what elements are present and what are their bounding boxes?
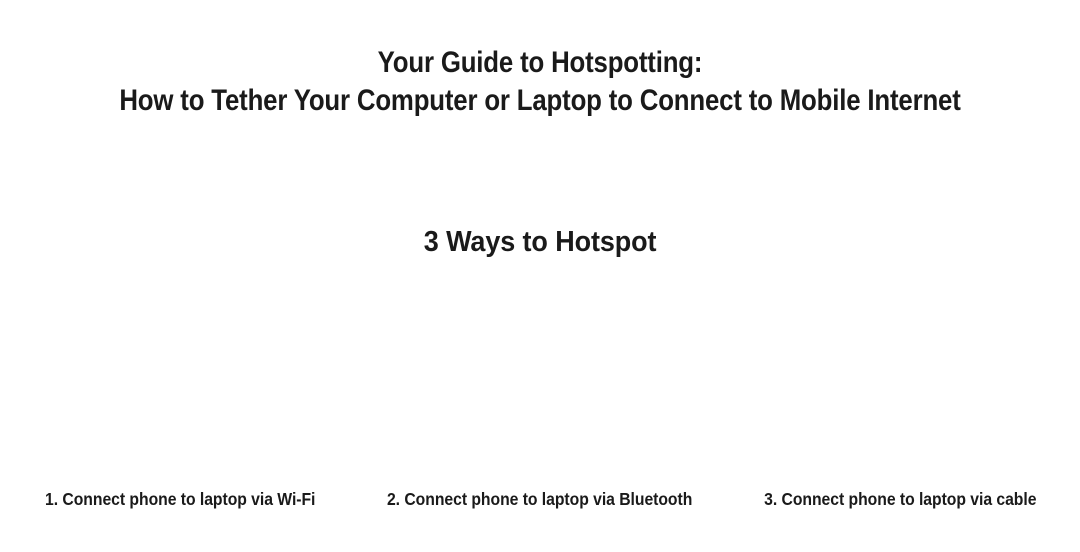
method-caption-2: 2. Connect phone to laptop via Bluetooth — [360, 488, 720, 510]
section-heading-text: 3 Ways to Hotspot — [424, 224, 657, 260]
illustration-row — [0, 276, 1080, 482]
cable-method-illustration — [720, 276, 1080, 482]
method-caption-3: 3. Connect phone to laptop via cable — [720, 488, 1080, 510]
bluetooth-method-illustration — [360, 276, 720, 482]
caption-row: 1. Connect phone to laptop via Wi-Fi 2. … — [0, 488, 1080, 510]
method-caption-1-text: 1. Connect phone to laptop via Wi-Fi — [45, 488, 315, 510]
infographic-page: Your Guide to Hotspotting: How to Tether… — [0, 0, 1080, 552]
page-title: Your Guide to Hotspotting: How to Tether… — [0, 44, 1080, 120]
method-caption-1: 1. Connect phone to laptop via Wi-Fi — [0, 488, 360, 510]
wifi-method-illustration — [0, 276, 360, 482]
title-line-2: How to Tether Your Computer or Laptop to… — [76, 82, 1005, 120]
method-caption-3-text: 3. Connect phone to laptop via cable — [764, 488, 1036, 510]
title-line-1: Your Guide to Hotspotting: — [76, 44, 1005, 82]
section-heading: 3 Ways to Hotspot — [0, 224, 1080, 260]
method-caption-2-text: 2. Connect phone to laptop via Bluetooth — [387, 488, 692, 510]
